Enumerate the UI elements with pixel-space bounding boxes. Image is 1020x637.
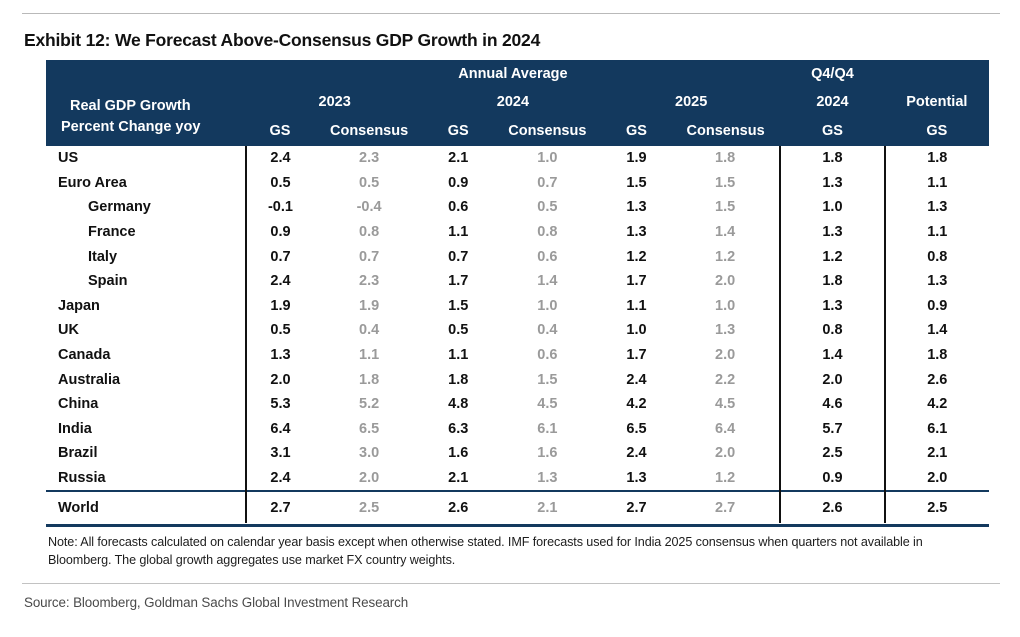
table-body: US2.42.32.11.01.91.81.81.8Euro Area0.50.…: [46, 146, 989, 523]
header-potential: Potential: [885, 88, 989, 116]
cell-2023-gs: 2.4: [246, 146, 315, 171]
table-row: China5.35.24.84.54.24.54.64.2: [46, 392, 989, 417]
cell-2025-consensus: 1.5: [671, 171, 780, 196]
table-header: Real GDP Growth Annual Average Q4/Q4 202…: [46, 60, 989, 146]
cell-q4q4-2024-gs: 2.6: [780, 491, 884, 523]
cell-2023-consensus: 1.8: [314, 367, 423, 392]
cell-2025-consensus: 2.2: [671, 367, 780, 392]
header-percent-change-yoy: Percent Change yoy: [46, 116, 246, 146]
table-row: Euro Area0.50.50.90.71.51.51.31.1: [46, 171, 989, 196]
cell-2023-gs: 0.9: [246, 220, 315, 245]
cell-q4q4-2024-gs: 1.8: [780, 269, 884, 294]
cell-2025-consensus: 1.2: [671, 466, 780, 492]
row-label: India: [46, 417, 246, 442]
cell-2023-gs: 0.7: [246, 244, 315, 269]
cell-2024-consensus: 0.4: [493, 318, 602, 343]
cell-q4q4-2024-gs: 0.8: [780, 318, 884, 343]
row-label: Euro Area: [46, 171, 246, 196]
cell-2024-consensus: 1.3: [493, 466, 602, 492]
cell-2023-consensus: 2.3: [314, 269, 423, 294]
cell-2023-consensus: 0.4: [314, 318, 423, 343]
header-group-q4q4: Q4/Q4: [780, 60, 884, 88]
page-title: Exhibit 12: We Forecast Above-Consensus …: [24, 30, 540, 51]
cell-potential-gs: 2.1: [885, 441, 989, 466]
header-2024-gs: GS: [424, 116, 493, 146]
cell-2025-consensus: 1.3: [671, 318, 780, 343]
table-row: Italy0.70.70.70.61.21.21.20.8: [46, 244, 989, 269]
cell-potential-gs: 4.2: [885, 392, 989, 417]
cell-potential-gs: 0.9: [885, 294, 989, 319]
row-label: Germany: [46, 195, 246, 220]
gdp-forecast-table: Real GDP Growth Annual Average Q4/Q4 202…: [46, 60, 989, 523]
header-2025-gs: GS: [602, 116, 671, 146]
cell-q4q4-2024-gs: 2.5: [780, 441, 884, 466]
cell-potential-gs: 1.8: [885, 343, 989, 368]
top-divider: [22, 13, 1000, 14]
cell-2023-consensus: -0.4: [314, 195, 423, 220]
cell-q4q4-2024-gs: 5.7: [780, 417, 884, 442]
cell-2023-gs: 1.9: [246, 294, 315, 319]
cell-2023-consensus: 5.2: [314, 392, 423, 417]
cell-2024-gs: 0.9: [424, 171, 493, 196]
header-2023-consensus: Consensus: [314, 116, 423, 146]
cell-2025-gs: 2.4: [602, 441, 671, 466]
cell-2024-gs: 6.3: [424, 417, 493, 442]
header-2025-consensus: Consensus: [671, 116, 780, 146]
cell-2024-consensus: 2.1: [493, 491, 602, 523]
cell-q4q4-2024-gs: 1.3: [780, 171, 884, 196]
cell-potential-gs: 1.3: [885, 195, 989, 220]
cell-q4q4-2024-gs: 4.6: [780, 392, 884, 417]
cell-2023-gs: 2.4: [246, 466, 315, 492]
header-row-subcolumns: Percent Change yoy GS Consensus GS Conse…: [46, 116, 989, 146]
cell-2025-consensus: 2.0: [671, 343, 780, 368]
cell-2023-consensus: 2.0: [314, 466, 423, 492]
table-row: US2.42.32.11.01.91.81.81.8: [46, 146, 989, 171]
gdp-forecast-table-container: Real GDP Growth Annual Average Q4/Q4 202…: [46, 60, 989, 523]
header-year-2024: 2024: [424, 88, 602, 116]
cell-2023-gs: 2.7: [246, 491, 315, 523]
cell-potential-gs: 2.6: [885, 367, 989, 392]
cell-2024-consensus: 1.4: [493, 269, 602, 294]
table-row: France0.90.81.10.81.31.41.31.1: [46, 220, 989, 245]
table-row: UK0.50.40.50.41.01.30.81.4: [46, 318, 989, 343]
cell-2025-gs: 1.2: [602, 244, 671, 269]
cell-potential-gs: 1.4: [885, 318, 989, 343]
cell-2024-gs: 0.7: [424, 244, 493, 269]
table-bottom-border: [46, 524, 989, 527]
cell-2025-consensus: 1.0: [671, 294, 780, 319]
cell-2025-gs: 1.9: [602, 146, 671, 171]
table-row: Brazil3.13.01.61.62.42.02.52.1: [46, 441, 989, 466]
cell-2024-gs: 2.1: [424, 146, 493, 171]
cell-2024-gs: 4.8: [424, 392, 493, 417]
cell-potential-gs: 1.1: [885, 220, 989, 245]
row-label: France: [46, 220, 246, 245]
cell-potential-gs: 2.0: [885, 466, 989, 492]
header-real-gdp-growth: Real GDP Growth: [46, 60, 246, 116]
cell-q4q4-2024-gs: 2.0: [780, 367, 884, 392]
header-2024-consensus: Consensus: [493, 116, 602, 146]
cell-q4q4-2024-gs: 1.0: [780, 195, 884, 220]
cell-2024-consensus: 6.1: [493, 417, 602, 442]
cell-2024-consensus: 0.5: [493, 195, 602, 220]
header-year-2025: 2025: [602, 88, 780, 116]
table-row: Russia2.42.02.11.31.31.20.92.0: [46, 466, 989, 492]
table-row: Germany-0.1-0.40.60.51.31.51.01.3: [46, 195, 989, 220]
cell-2024-gs: 1.5: [424, 294, 493, 319]
cell-2025-consensus: 4.5: [671, 392, 780, 417]
cell-2025-consensus: 2.0: [671, 269, 780, 294]
cell-2025-gs: 1.0: [602, 318, 671, 343]
cell-2025-gs: 1.3: [602, 220, 671, 245]
header-q4q4-2024-gs: GS: [780, 116, 884, 146]
cell-q4q4-2024-gs: 1.3: [780, 220, 884, 245]
table-note: Note: All forecasts calculated on calend…: [48, 534, 986, 570]
cell-2024-consensus: 0.6: [493, 343, 602, 368]
cell-2023-consensus: 0.5: [314, 171, 423, 196]
table-total-row: World2.72.52.62.12.72.72.62.5: [46, 491, 989, 523]
cell-2025-gs: 2.7: [602, 491, 671, 523]
cell-2025-gs: 1.1: [602, 294, 671, 319]
cell-2024-consensus: 1.0: [493, 294, 602, 319]
cell-potential-gs: 6.1: [885, 417, 989, 442]
cell-2025-gs: 1.7: [602, 343, 671, 368]
row-label: World: [46, 491, 246, 523]
cell-2024-consensus: 0.7: [493, 171, 602, 196]
cell-2023-gs: -0.1: [246, 195, 315, 220]
source-divider: [22, 583, 1000, 584]
cell-potential-gs: 1.8: [885, 146, 989, 171]
exhibit-page: Exhibit 12: We Forecast Above-Consensus …: [0, 0, 1020, 637]
cell-2025-consensus: 1.8: [671, 146, 780, 171]
header-q4-year-2024: 2024: [780, 88, 884, 116]
cell-2023-gs: 1.3: [246, 343, 315, 368]
cell-2025-gs: 1.5: [602, 171, 671, 196]
cell-2024-consensus: 1.0: [493, 146, 602, 171]
header-potential-gs: GS: [885, 116, 989, 146]
header-2023-gs: GS: [246, 116, 315, 146]
row-label: Australia: [46, 367, 246, 392]
row-label: UK: [46, 318, 246, 343]
table-row: Japan1.91.91.51.01.11.01.30.9: [46, 294, 989, 319]
table-row: Spain2.42.31.71.41.72.01.81.3: [46, 269, 989, 294]
table-row: Canada1.31.11.10.61.72.01.41.8: [46, 343, 989, 368]
cell-2024-gs: 0.5: [424, 318, 493, 343]
header-row-groups: Real GDP Growth Annual Average Q4/Q4: [46, 60, 989, 88]
cell-2023-gs: 6.4: [246, 417, 315, 442]
row-label: China: [46, 392, 246, 417]
cell-2024-gs: 2.6: [424, 491, 493, 523]
cell-2024-consensus: 1.5: [493, 367, 602, 392]
cell-2025-gs: 1.3: [602, 195, 671, 220]
cell-2025-gs: 1.7: [602, 269, 671, 294]
cell-2024-consensus: 1.6: [493, 441, 602, 466]
cell-2025-consensus: 6.4: [671, 417, 780, 442]
row-label: Canada: [46, 343, 246, 368]
row-label: Russia: [46, 466, 246, 492]
table-row: India6.46.56.36.16.56.45.76.1: [46, 417, 989, 442]
row-label: US: [46, 146, 246, 171]
header-group-blank: [885, 60, 989, 88]
cell-potential-gs: 1.1: [885, 171, 989, 196]
cell-q4q4-2024-gs: 1.4: [780, 343, 884, 368]
cell-2024-consensus: 0.6: [493, 244, 602, 269]
cell-2024-gs: 1.1: [424, 220, 493, 245]
cell-2024-gs: 1.1: [424, 343, 493, 368]
cell-2025-gs: 4.2: [602, 392, 671, 417]
cell-q4q4-2024-gs: 0.9: [780, 466, 884, 492]
cell-2024-consensus: 4.5: [493, 392, 602, 417]
cell-potential-gs: 0.8: [885, 244, 989, 269]
cell-2024-gs: 1.6: [424, 441, 493, 466]
cell-potential-gs: 1.3: [885, 269, 989, 294]
cell-2023-consensus: 3.0: [314, 441, 423, 466]
cell-2023-gs: 2.0: [246, 367, 315, 392]
cell-2025-consensus: 1.2: [671, 244, 780, 269]
row-label: Japan: [46, 294, 246, 319]
cell-q4q4-2024-gs: 1.3: [780, 294, 884, 319]
cell-2023-gs: 5.3: [246, 392, 315, 417]
cell-2025-consensus: 1.5: [671, 195, 780, 220]
cell-2025-consensus: 2.0: [671, 441, 780, 466]
cell-2024-gs: 1.8: [424, 367, 493, 392]
header-year-2023: 2023: [246, 88, 424, 116]
cell-2025-gs: 2.4: [602, 367, 671, 392]
cell-2023-consensus: 0.7: [314, 244, 423, 269]
table-row: Australia2.01.81.81.52.42.22.02.6: [46, 367, 989, 392]
cell-2023-consensus: 1.1: [314, 343, 423, 368]
cell-2023-gs: 0.5: [246, 318, 315, 343]
cell-q4q4-2024-gs: 1.8: [780, 146, 884, 171]
cell-q4q4-2024-gs: 1.2: [780, 244, 884, 269]
header-group-annual-average: Annual Average: [246, 60, 781, 88]
cell-2023-consensus: 0.8: [314, 220, 423, 245]
cell-2025-gs: 6.5: [602, 417, 671, 442]
cell-2024-gs: 1.7: [424, 269, 493, 294]
cell-2024-gs: 2.1: [424, 466, 493, 492]
cell-2023-gs: 0.5: [246, 171, 315, 196]
cell-2025-consensus: 2.7: [671, 491, 780, 523]
cell-2023-consensus: 6.5: [314, 417, 423, 442]
cell-2023-consensus: 2.3: [314, 146, 423, 171]
cell-2024-gs: 0.6: [424, 195, 493, 220]
row-label: Brazil: [46, 441, 246, 466]
cell-2023-consensus: 2.5: [314, 491, 423, 523]
cell-2023-consensus: 1.9: [314, 294, 423, 319]
cell-2024-consensus: 0.8: [493, 220, 602, 245]
cell-2025-gs: 1.3: [602, 466, 671, 492]
row-label: Spain: [46, 269, 246, 294]
cell-2023-gs: 2.4: [246, 269, 315, 294]
cell-potential-gs: 2.5: [885, 491, 989, 523]
cell-2023-gs: 3.1: [246, 441, 315, 466]
cell-2025-consensus: 1.4: [671, 220, 780, 245]
source-line: Source: Bloomberg, Goldman Sachs Global …: [24, 595, 408, 610]
row-label: Italy: [46, 244, 246, 269]
